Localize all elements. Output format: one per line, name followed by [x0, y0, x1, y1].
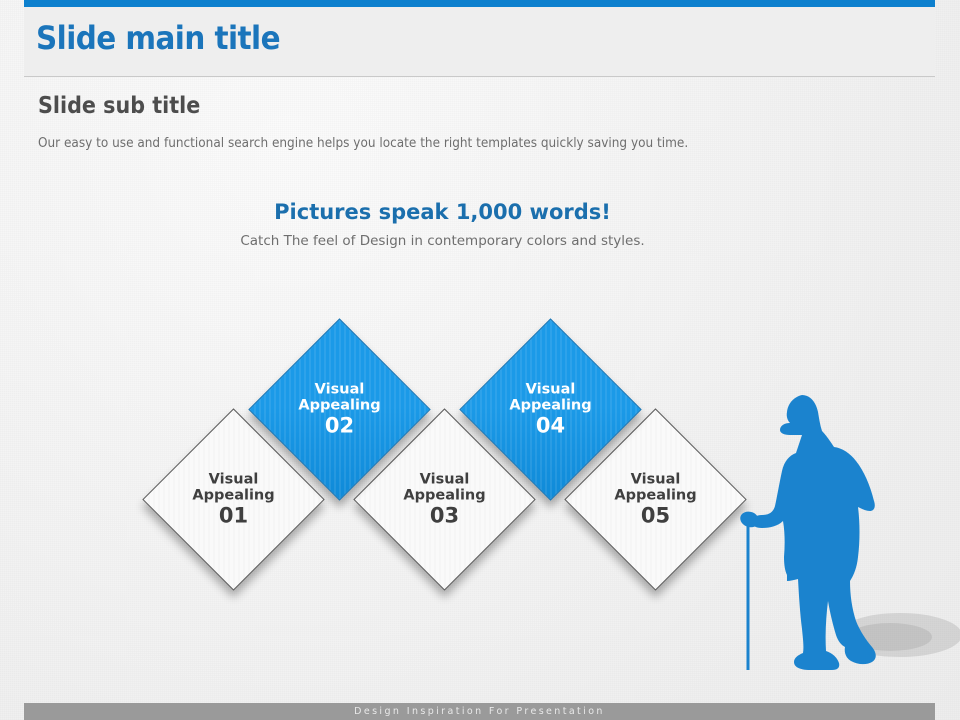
- slide-sub-description: Our easy to use and functional search en…: [38, 136, 688, 151]
- diamond-number-05: 05: [581, 504, 731, 528]
- diamond-label-03: Visual Appealing 03: [370, 471, 520, 528]
- diamond-number-04: 04: [476, 414, 626, 438]
- center-heading: Pictures speak 1,000 words!: [0, 200, 885, 224]
- diamond-number-02: 02: [265, 414, 415, 438]
- slide-main-title: Slide main title: [36, 19, 280, 57]
- slide-sub-title: Slide sub title: [38, 93, 200, 119]
- diamond-line1-05: Visual: [581, 471, 731, 487]
- diamond-number-03: 03: [370, 504, 520, 528]
- footer-text: Design Inspiration For Presentation: [24, 703, 935, 720]
- diamond-line1-04: Visual: [476, 381, 626, 397]
- elderly-man-with-cane-icon: [740, 385, 960, 685]
- diamond-line1-02: Visual: [265, 381, 415, 397]
- top-accent-bar: [24, 0, 935, 7]
- diamond-label-04: Visual Appealing 04: [476, 381, 626, 438]
- footer-bar: Design Inspiration For Presentation: [24, 703, 935, 720]
- diamond-line2-02: Appealing: [265, 397, 415, 413]
- diamond-line2-01: Appealing: [159, 487, 309, 503]
- elderly-man-silhouette-figure: [740, 385, 960, 685]
- diamond-label-05: Visual Appealing 05: [581, 471, 731, 528]
- diamond-label-01: Visual Appealing 01: [159, 471, 309, 528]
- diamond-number-01: 01: [159, 504, 309, 528]
- center-subheading: Catch The feel of Design in contemporary…: [0, 233, 885, 249]
- diamond-line2-05: Appealing: [581, 487, 731, 503]
- diamond-line1-03: Visual: [370, 471, 520, 487]
- diamond-line1-01: Visual: [159, 471, 309, 487]
- presentation-slide: Slide main title Slide sub title Our eas…: [0, 0, 960, 720]
- diamond-line2-03: Appealing: [370, 487, 520, 503]
- diamond-line2-04: Appealing: [476, 397, 626, 413]
- diamond-label-02: Visual Appealing 02: [265, 381, 415, 438]
